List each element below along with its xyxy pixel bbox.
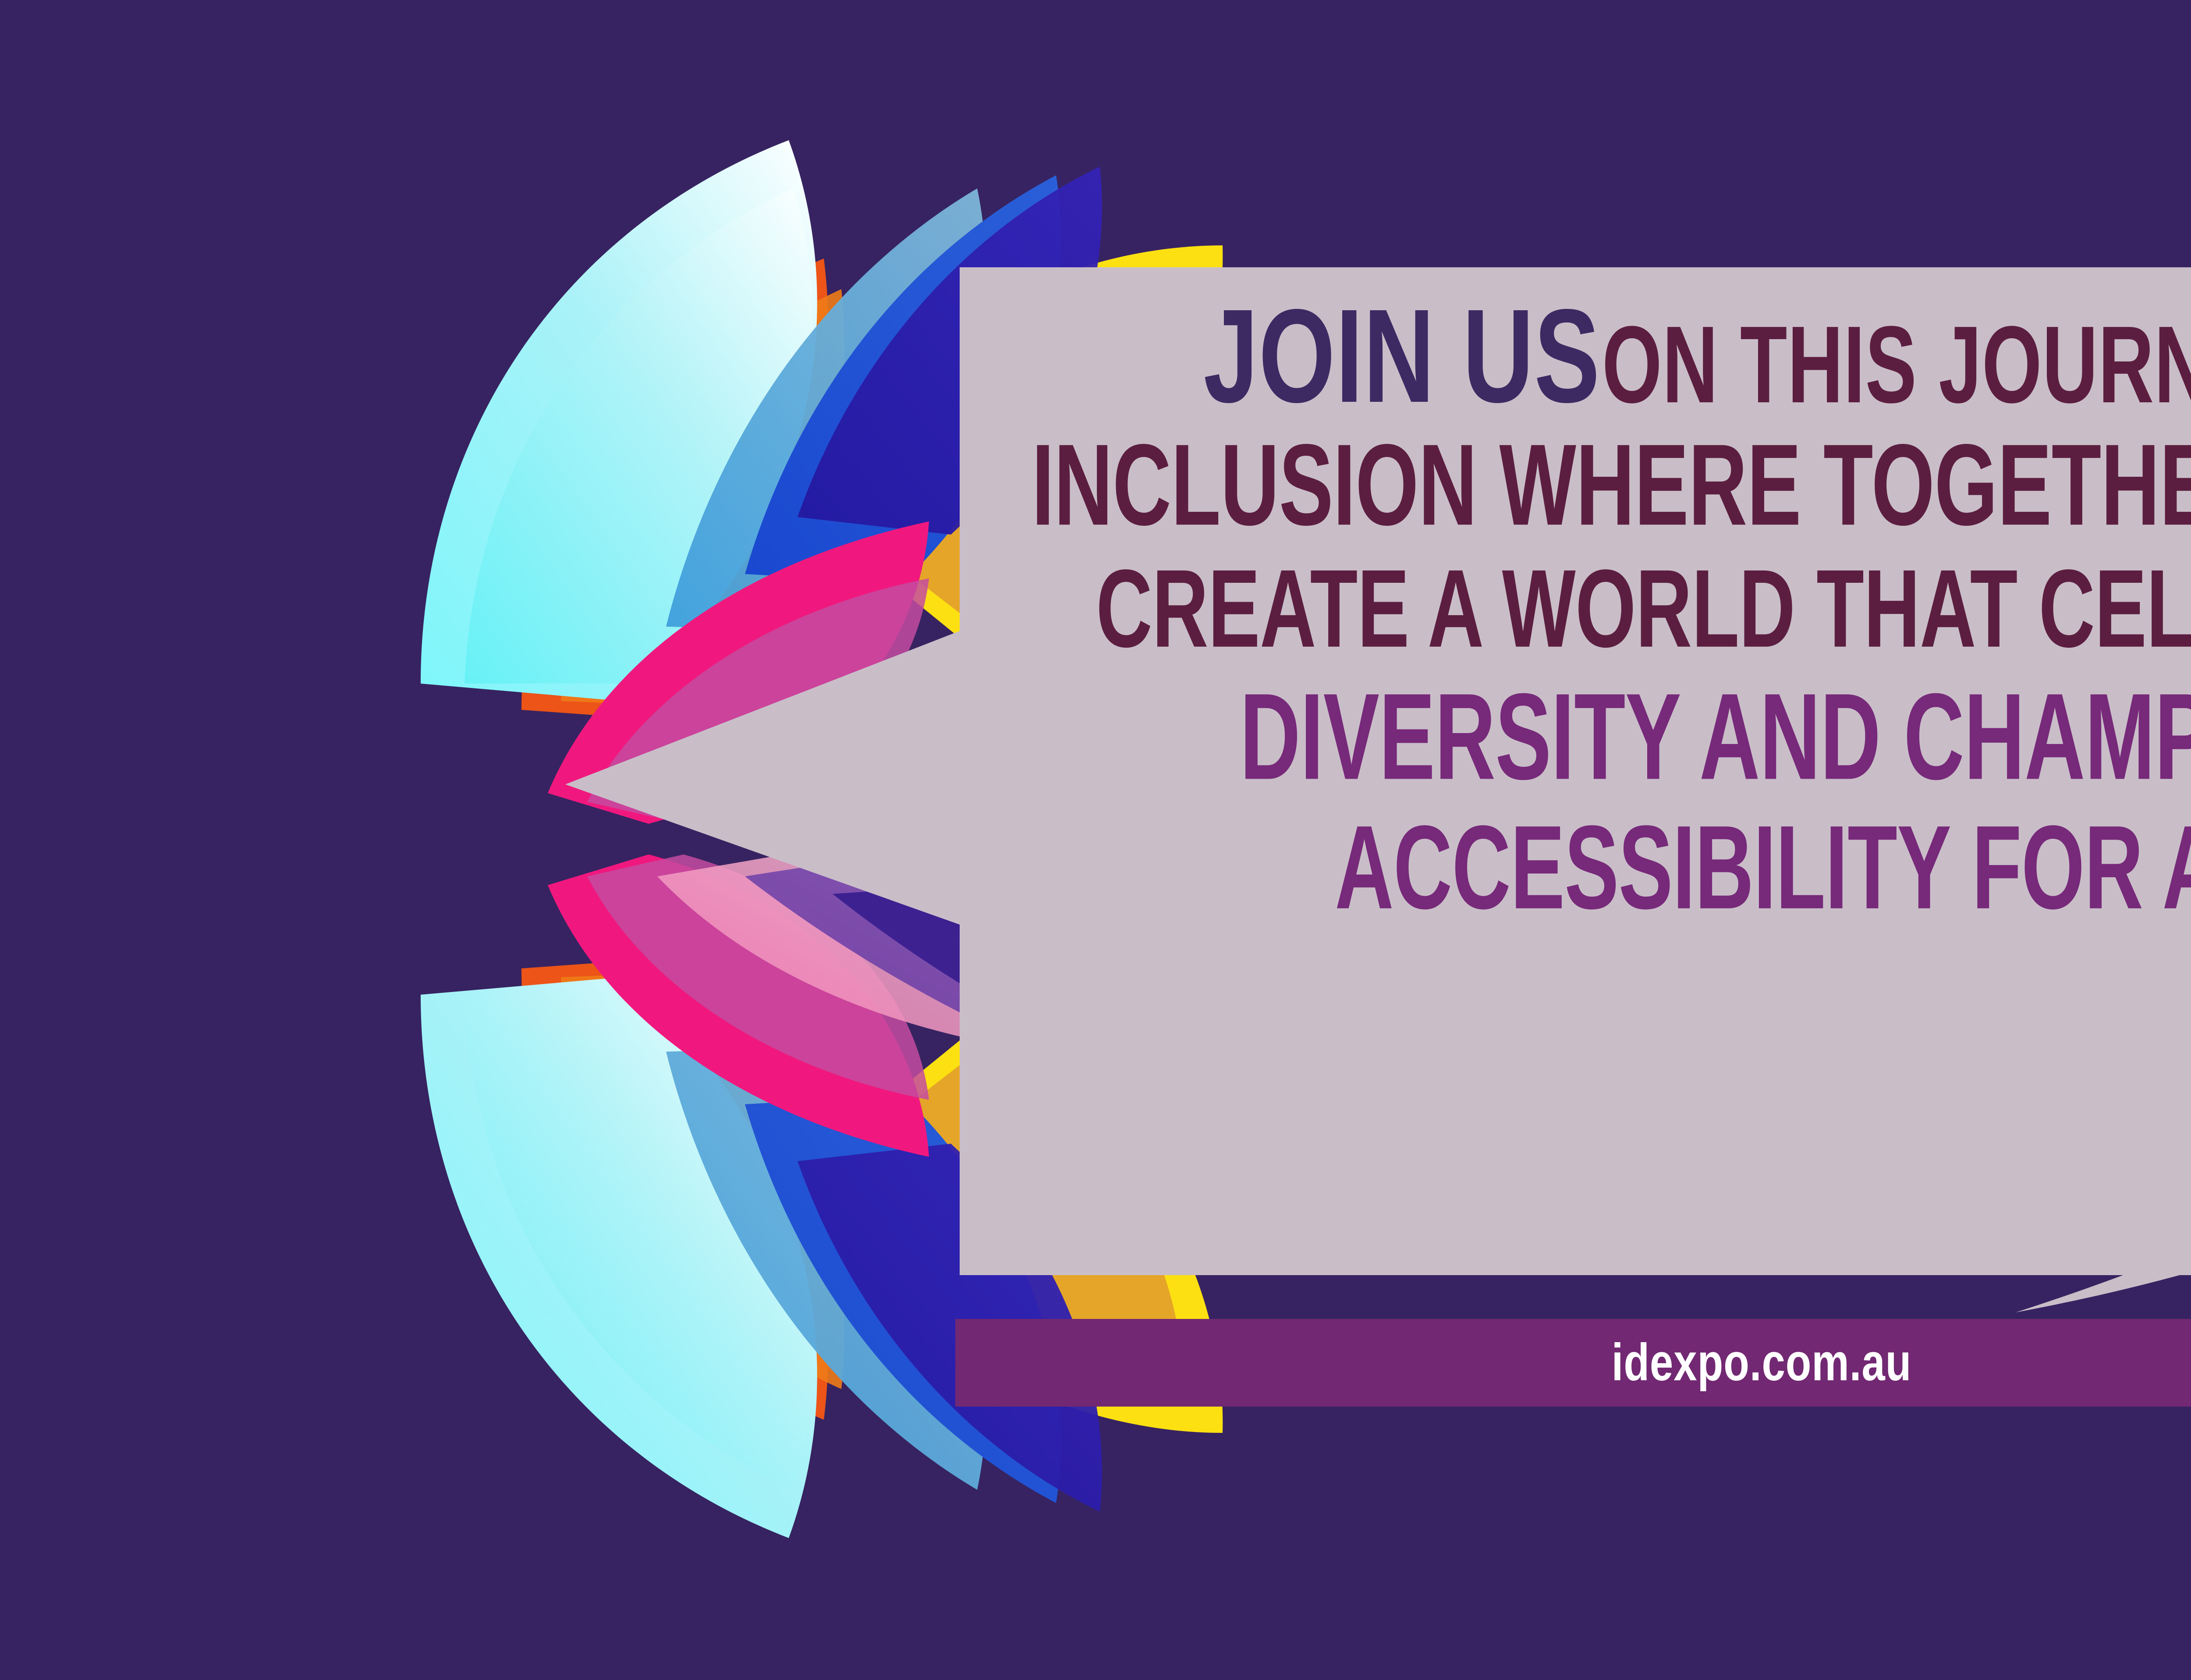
banner-canvas: JOIN USON THIS JOURNEY OF INCLUSION WHER… — [0, 0, 2191, 1680]
decorative-artwork — [0, 0, 2191, 1680]
website-url-bar[interactable]: idexpo.com.au — [955, 1319, 2191, 1407]
website-url-text: idexpo.com.au — [1612, 1333, 1912, 1393]
